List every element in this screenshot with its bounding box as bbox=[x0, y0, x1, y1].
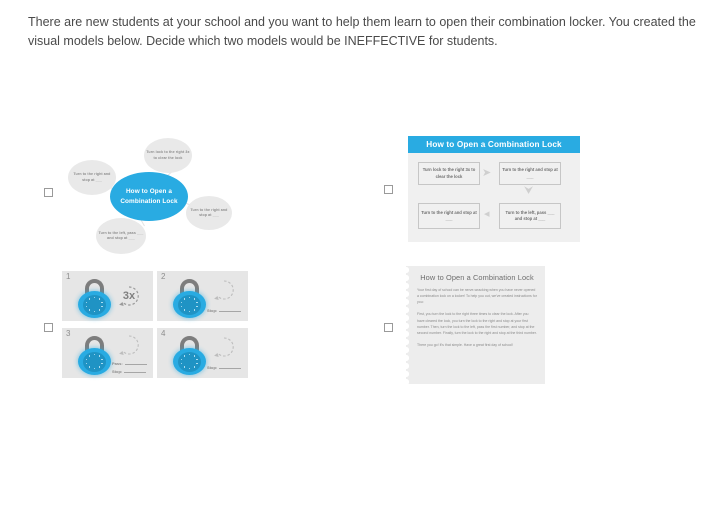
flowchart-step-3: Turn to the left, pass ___ and stop at _… bbox=[499, 203, 561, 229]
dial-tick bbox=[99, 355, 101, 357]
dial-tick bbox=[89, 298, 91, 300]
dial-tick bbox=[86, 359, 88, 361]
field-label: Stop: bbox=[207, 365, 217, 370]
dial-tick bbox=[181, 302, 183, 304]
rotate-arrow-icon bbox=[213, 279, 235, 301]
panel-field-stop: Stop: bbox=[207, 364, 241, 370]
dial-tick bbox=[184, 366, 186, 368]
dial-tick bbox=[94, 297, 96, 299]
rotate-arrow-icon: 3x bbox=[118, 285, 140, 307]
dial-tick bbox=[194, 366, 196, 368]
dial-tick bbox=[101, 363, 103, 365]
flowchart-body: Turn lock to the right 3x to clear the l… bbox=[408, 153, 580, 242]
dial-tick bbox=[89, 309, 91, 311]
checkbox-option-a[interactable] bbox=[44, 188, 53, 197]
checkbox-option-c[interactable] bbox=[44, 323, 53, 332]
dial-tick bbox=[94, 354, 96, 356]
checkbox-option-d[interactable] bbox=[384, 323, 393, 332]
dial-tick bbox=[99, 309, 101, 311]
option-d-text-document[interactable]: How to Open a Combination Lock Your firs… bbox=[406, 266, 545, 384]
option-a-bubble-map[interactable]: Turn lock to the right 3x to clear the l… bbox=[62, 130, 242, 255]
dial-tick bbox=[94, 311, 96, 313]
dial-tick bbox=[181, 359, 183, 361]
dial-tick bbox=[184, 298, 186, 300]
dial-tick bbox=[101, 306, 103, 308]
dial-tick bbox=[196, 302, 198, 304]
question-prompt: There are new students at your school an… bbox=[28, 13, 704, 52]
dial-tick bbox=[196, 306, 198, 308]
lock-panel-1: 1 3x bbox=[62, 271, 153, 321]
document-content: How to Open a Combination Lock Your firs… bbox=[417, 273, 537, 354]
padlock-icon bbox=[173, 279, 206, 317]
option-b-flowchart[interactable]: How to Open a Combination Lock Turn lock… bbox=[408, 136, 580, 242]
bubble-step-1: Turn lock to the right 3x to clear the l… bbox=[144, 138, 192, 173]
arrow-left-icon: ◂ bbox=[484, 209, 490, 220]
dial-tick bbox=[189, 297, 191, 299]
document-paragraph: Your first day of school can be nerve-wr… bbox=[417, 287, 537, 305]
padlock-icon bbox=[78, 336, 111, 374]
dial-tick bbox=[189, 354, 191, 356]
rotate-arrow-icon bbox=[118, 334, 140, 356]
padlock-icon bbox=[173, 336, 206, 374]
dial-tick bbox=[189, 368, 191, 370]
rotate-arrow-icon bbox=[213, 336, 235, 358]
document-paragraph: There you go! It's that simple. Have a g… bbox=[417, 342, 537, 348]
bubble-step-2: Turn to the right and stop at ___ bbox=[68, 160, 116, 195]
dial-tick bbox=[196, 363, 198, 365]
lock-panel-3: 3 Pass: Stop: bbox=[62, 328, 153, 378]
checkbox-option-b[interactable] bbox=[384, 185, 393, 194]
panel-number: 3 bbox=[66, 329, 70, 338]
field-label: Stop: bbox=[112, 369, 122, 374]
bubble-step-3: Turn to the right and stop at ___ bbox=[186, 196, 232, 230]
dial-tick bbox=[89, 355, 91, 357]
dial-tick bbox=[89, 366, 91, 368]
panel-number: 4 bbox=[161, 329, 165, 338]
dial-tick bbox=[99, 366, 101, 368]
panel-field-stop: Stop: bbox=[112, 368, 146, 374]
dial-tick bbox=[196, 359, 198, 361]
padlock-icon bbox=[78, 279, 111, 317]
flowchart-step-1: Turn lock to the right 3x to clear the l… bbox=[418, 162, 480, 185]
dial-tick bbox=[86, 302, 88, 304]
dial-tick bbox=[94, 368, 96, 370]
dial-tick bbox=[101, 302, 103, 304]
dial-tick bbox=[194, 309, 196, 311]
bubble-center-title: How to Open a Combination Lock bbox=[110, 172, 188, 221]
dial-tick bbox=[194, 298, 196, 300]
flowchart-step-2: Turn to the right and stop at ___ bbox=[499, 162, 561, 185]
dial-tick bbox=[101, 359, 103, 361]
answer-options: Turn lock to the right 3x to clear the l… bbox=[0, 64, 719, 334]
dial-tick bbox=[181, 363, 183, 365]
panel-field-stop: Stop: bbox=[207, 307, 241, 313]
flowchart-header: How to Open a Combination Lock bbox=[408, 136, 580, 153]
option-c-lock-panels[interactable]: 1 3x 2 bbox=[62, 271, 247, 381]
dial-tick bbox=[194, 355, 196, 357]
dial-tick bbox=[99, 298, 101, 300]
lock-panel-2: 2 Stop: bbox=[157, 271, 248, 321]
document-paragraph: First, you turn the lock to the right th… bbox=[417, 311, 537, 336]
panel-number: 1 bbox=[66, 272, 70, 281]
panel-badge: 3x bbox=[118, 285, 140, 307]
dial-tick bbox=[86, 306, 88, 308]
bubble-step-4: Turn to the left, pass ___ and stop at _… bbox=[96, 218, 146, 254]
arrow-right-icon: ➤ bbox=[482, 168, 491, 179]
dial-tick bbox=[189, 311, 191, 313]
dial-tick bbox=[86, 363, 88, 365]
field-label: Pass: bbox=[112, 361, 123, 366]
dial-tick bbox=[181, 306, 183, 308]
arrow-down-icon: ⮟ bbox=[524, 186, 533, 197]
torn-edge-decoration bbox=[406, 266, 413, 384]
flowchart-step-4: Turn to the right and stop at ___ bbox=[418, 203, 480, 229]
panel-field-pass: Pass: bbox=[112, 360, 147, 366]
document-title: How to Open a Combination Lock bbox=[417, 273, 537, 282]
field-label: Stop: bbox=[207, 308, 217, 313]
dial-tick bbox=[184, 309, 186, 311]
panel-number: 2 bbox=[161, 272, 165, 281]
dial-tick bbox=[184, 355, 186, 357]
lock-panel-4: 4 Stop: bbox=[157, 328, 248, 378]
